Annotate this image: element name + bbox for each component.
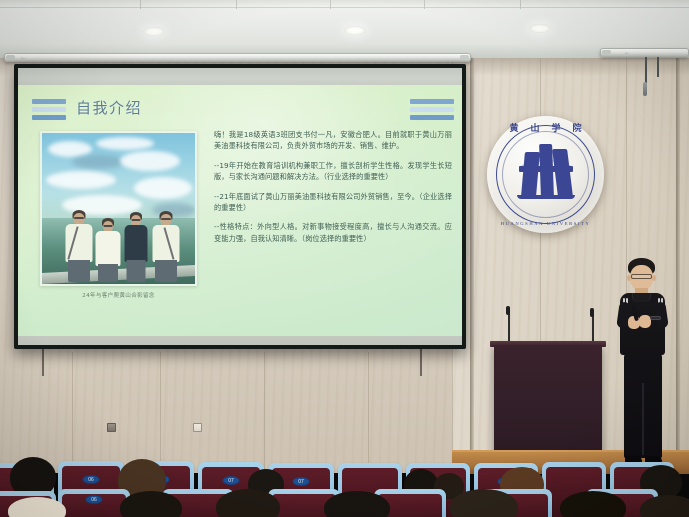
roller-endcap [6, 55, 15, 60]
emblem-chinese-name: 黄山学院 [487, 121, 604, 134]
photo-person [122, 212, 150, 282]
ceiling-panel-line [520, 0, 521, 9]
seat-number: 06 [86, 495, 103, 504]
speaker-person [606, 258, 680, 473]
cloud [96, 137, 154, 150]
ceiling-panel-line [330, 0, 331, 9]
presentation-slide: 自我介绍 [18, 85, 462, 336]
seat-number: 07 [293, 477, 310, 486]
cloud [46, 171, 116, 189]
glasses-icon [631, 274, 652, 279]
slide-paragraph: 嗨！我是18级英语3班团支书付一凡，安徽合肥人。目前就职于黄山万丽美油墨科技有限… [214, 129, 452, 152]
ceiling-downlight [529, 24, 551, 33]
wall-outlet[interactable] [107, 423, 116, 432]
photo-person [94, 214, 122, 282]
slide-decoration-left [32, 99, 66, 120]
projector-screen-roller-right: ••• [600, 48, 689, 57]
screen-tension-cord [420, 349, 422, 376]
seat[interactable]: 06 [58, 489, 130, 517]
wristwatch-icon [650, 316, 661, 320]
cloud [48, 141, 92, 157]
roller-drop-weight[interactable] [643, 82, 647, 96]
photo-caption: 24年与客户爬黄山合影留念 [40, 291, 197, 299]
person-legs [127, 260, 146, 282]
wall-switch[interactable] [193, 423, 202, 432]
photo-person [64, 210, 94, 282]
wall-panel-seam [72, 352, 73, 472]
ceiling-downlight [143, 27, 165, 36]
slide-decoration-right [410, 99, 454, 120]
ceiling-downlight [344, 26, 366, 35]
person-legs [155, 260, 177, 282]
projector-screen-roller-left: ••• [4, 53, 471, 62]
slide-paragraph: --21年底面试了黄山万丽美油墨科技有限公司外贸销售，至今。（企业选择的重要性） [214, 191, 452, 214]
podium [494, 345, 602, 462]
cloud [72, 155, 124, 169]
wall-panel-seam [368, 352, 369, 472]
audience-head [324, 491, 390, 517]
deco-bar [410, 107, 454, 112]
seat-number: 07 [223, 476, 240, 485]
podium-microphone-stem [508, 312, 510, 344]
speaker-polo-collar [632, 293, 651, 302]
deco-bar [410, 99, 454, 104]
emblem-english-name: HUANGSHAN UNIVERSITY [487, 221, 604, 226]
audience-head [450, 489, 518, 517]
roller-endcap [460, 55, 469, 60]
deco-bar [32, 115, 66, 120]
cloud [120, 151, 180, 171]
audience-head [120, 491, 182, 517]
speaker-leg-split [642, 383, 644, 455]
person-shirt [125, 225, 148, 262]
slide-body-text: 嗨！我是18级英语3班团支书付一凡，安徽合肥人。目前就职于黄山万丽美油墨科技有限… [214, 129, 452, 252]
podium-microphone[interactable] [506, 306, 510, 315]
audience-area: 05 06 06 07 07 08 [0, 455, 689, 517]
deco-bar [32, 107, 66, 112]
slide-paragraph: --19年开始在教育培训机构兼职工作，擅长剖析学生性格。发现学生长短版，与家长沟… [214, 160, 452, 183]
podium-microphone[interactable] [590, 308, 594, 317]
roller-badge: ••• [21, 56, 25, 60]
emblem-hull [517, 195, 575, 199]
ceiling-panel-line [236, 0, 237, 9]
university-emblem: 黄山学院 HUANGSHAN UNIVERSITY [487, 116, 604, 233]
speaker-ear [652, 275, 656, 281]
slide-paragraph: --性格特点：外向型人格。对新事物接受程度高，擅长与人沟通交流。应变能力强，自我… [214, 221, 452, 244]
wall-panel-seam [160, 352, 161, 472]
deco-bar [32, 99, 66, 104]
screen-tension-cord [42, 349, 44, 376]
photo-image [42, 133, 195, 284]
roller-drop-cord[interactable] [645, 57, 647, 85]
podium-microphone-stem [592, 314, 594, 344]
lecture-hall-photo: ••• ••• [0, 0, 689, 517]
person-shirt [96, 231, 121, 266]
projection-screen: 自我介绍 [14, 64, 466, 349]
audience-head [560, 491, 626, 517]
person-sunglasses [132, 219, 141, 221]
person-sunglasses [74, 217, 84, 219]
wall-column-edge [470, 58, 474, 458]
person-legs [98, 264, 118, 282]
ceiling-seam [0, 0, 689, 8]
cloud [134, 177, 192, 199]
audience-head [216, 489, 280, 517]
person-sunglasses [104, 225, 113, 227]
wall-panel-seam [264, 352, 265, 472]
seat-number: 06 [83, 475, 100, 484]
emblem-crossbar [519, 166, 573, 172]
slide-title: 自我介绍 [76, 97, 142, 118]
roller-drop-cord[interactable] [657, 57, 659, 77]
ceiling-panel-line [424, 0, 425, 9]
person-sunglasses [161, 218, 171, 220]
photo-person [150, 210, 182, 282]
roller-badge: ••• [625, 51, 629, 55]
screen-top-band [18, 68, 462, 85]
screen-surface: 自我介绍 [18, 68, 462, 345]
ceiling-panel-line [140, 0, 141, 9]
slide-photo [40, 131, 197, 286]
roller-endcap [602, 50, 611, 55]
deco-bar [410, 115, 454, 120]
person-legs [68, 260, 90, 282]
